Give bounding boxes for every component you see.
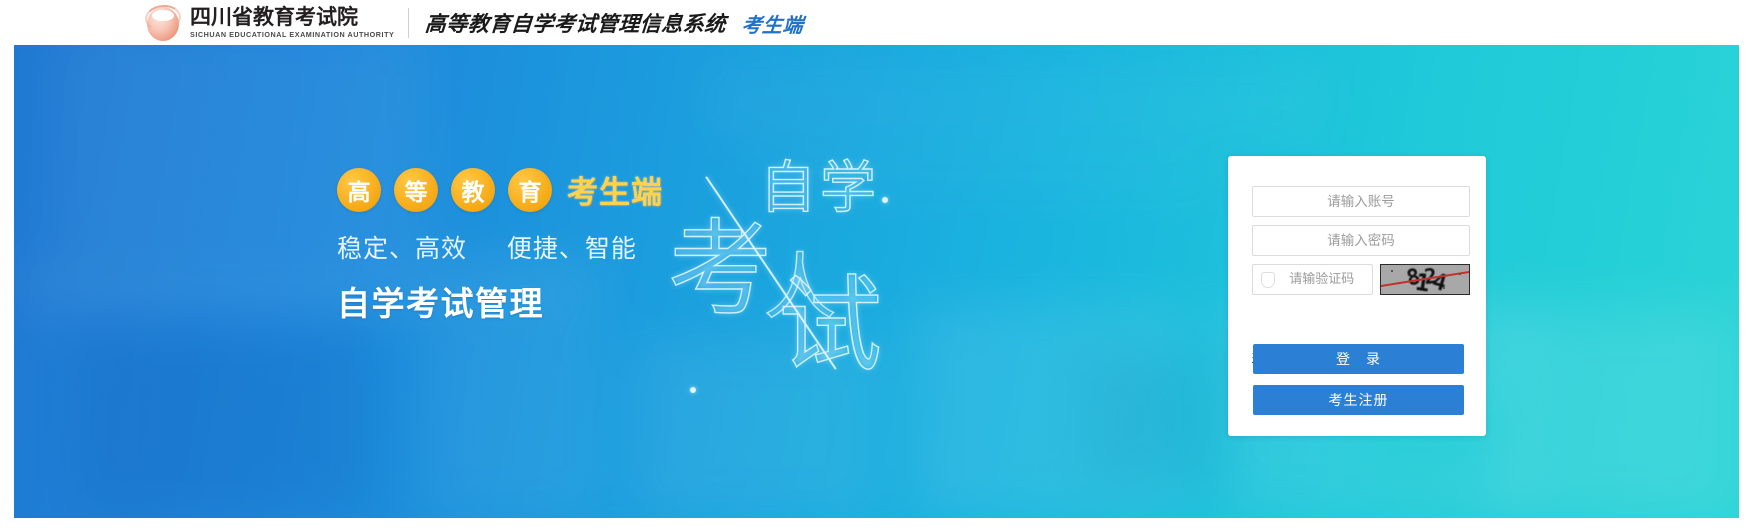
logo-text-block: 四川省教育考试院 SICHUAN EDUCATIONAL EXAMINATION… xyxy=(190,6,394,40)
banner-tagline-left: 稳定、高效 xyxy=(337,234,467,263)
password-field[interactable] xyxy=(1252,225,1470,256)
captcha-field[interactable] xyxy=(1252,264,1373,295)
shield-icon xyxy=(1261,272,1275,288)
password-input[interactable] xyxy=(1253,226,1469,255)
logo-chinese-name: 四川省教育考试院 xyxy=(190,6,394,28)
decor-dot-bottom xyxy=(690,387,696,393)
banner-promo-block: 高 等 教 育 考生端 稳定、高效 便捷、智能 自学考试管理 xyxy=(337,167,997,325)
logo-english-name: SICHUAN EDUCATIONAL EXAMINATION AUTHORIT… xyxy=(190,30,394,40)
sichuan-eea-emblem-icon xyxy=(140,3,186,43)
badge-circle-4: 育 xyxy=(508,168,552,212)
banner-role-label: 考生端 xyxy=(567,167,663,212)
header-inner: 四川省教育考试院 SICHUAN EDUCATIONAL EXAMINATION… xyxy=(140,0,804,46)
badge-circle-2: 等 xyxy=(394,168,438,212)
hero-banner: 自学 考 人 试 高 等 教 育 考生端 稳定、高效 便捷、智能 自学考试管理 xyxy=(14,45,1739,518)
badge-circle-3: 教 xyxy=(451,168,495,212)
badge-circle-1: 高 xyxy=(337,168,381,212)
register-button[interactable]: 考生注册 xyxy=(1253,385,1464,415)
captcha-row: 8124 xyxy=(1252,264,1470,295)
banner-badge-row: 高 等 教 育 考生端 xyxy=(337,167,997,212)
banner-tagline-right: 便捷、智能 xyxy=(507,234,637,263)
login-button[interactable]: 登 录 xyxy=(1253,344,1464,374)
account-field[interactable] xyxy=(1252,186,1470,217)
login-card: 8124 找回密码 登 录 考生注册 xyxy=(1228,156,1486,436)
header-divider xyxy=(408,8,409,38)
captcha-image[interactable]: 8124 xyxy=(1380,264,1470,295)
banner-headline: 自学考试管理 xyxy=(337,277,997,325)
site-header: 四川省教育考试院 SICHUAN EDUCATIONAL EXAMINATION… xyxy=(0,0,1753,46)
login-page: 四川省教育考试院 SICHUAN EDUCATIONAL EXAMINATION… xyxy=(0,0,1753,528)
system-role-label: 考生端 xyxy=(741,9,806,38)
account-input[interactable] xyxy=(1253,187,1469,216)
banner-tagline: 稳定、高效 便捷、智能 xyxy=(337,229,997,265)
system-title: 高等教育自学考试管理信息系统 xyxy=(424,8,727,38)
